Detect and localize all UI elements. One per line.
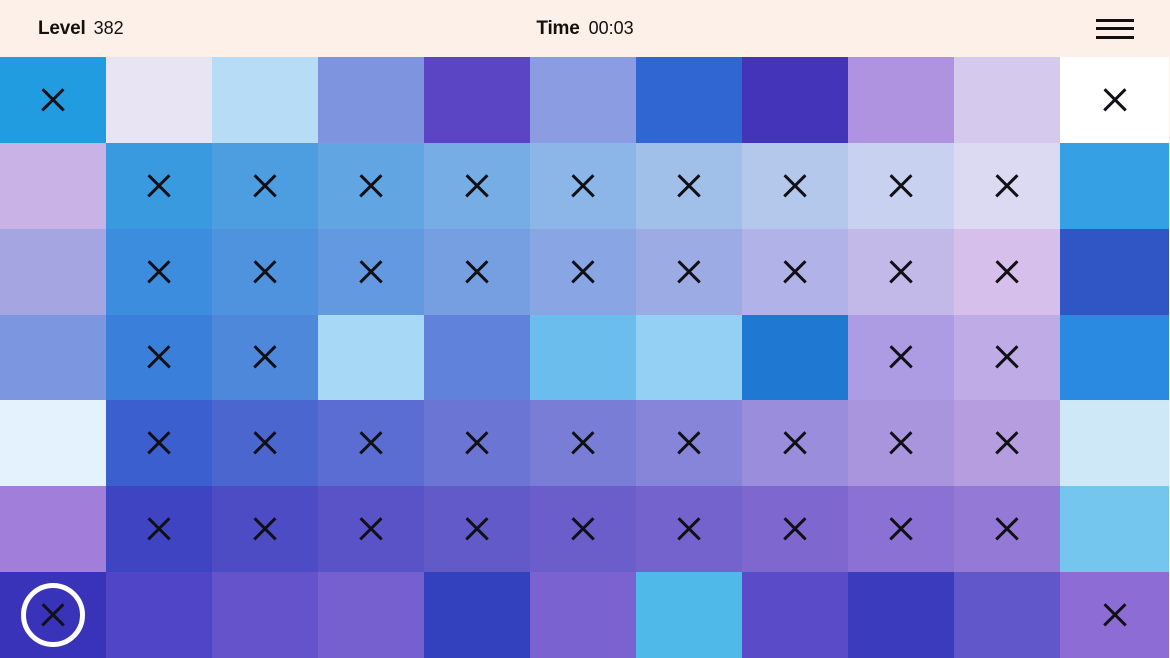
grid-cell[interactable] [530,400,636,486]
x-mark-icon [994,173,1020,199]
x-mark-icon [1102,87,1128,113]
x-mark-icon [994,259,1020,285]
x-mark-icon [570,516,596,542]
grid-cell[interactable] [1060,57,1169,143]
x-mark-icon [252,430,278,456]
grid-cell[interactable] [0,400,106,486]
grid-cell[interactable] [636,486,742,572]
grid-cell[interactable] [318,572,424,658]
x-mark-icon [782,516,808,542]
level-indicator: Level 382 [38,18,124,40]
grid-cell[interactable] [530,315,636,401]
x-mark-icon [252,173,278,199]
x-mark-icon [358,430,384,456]
x-mark-icon [570,430,596,456]
grid-cell[interactable] [954,486,1060,572]
x-mark-icon [146,516,172,542]
grid-cell[interactable] [1060,229,1169,315]
x-mark-icon [676,173,702,199]
grid-cell[interactable] [424,57,530,143]
x-mark-icon [464,173,490,199]
x-mark-icon [676,516,702,542]
x-mark-icon [146,430,172,456]
grid-cell[interactable] [1060,143,1169,229]
x-mark-icon [40,602,66,628]
grid-cell[interactable] [106,143,212,229]
grid-cell[interactable] [848,315,954,401]
grid-cell[interactable] [106,57,212,143]
grid-cell[interactable] [212,143,318,229]
level-label: Level [38,18,86,40]
level-value: 382 [94,18,124,39]
game-screen: Level 382 Time 00:03 [0,0,1170,658]
grid-cell[interactable] [424,486,530,572]
grid-cell[interactable] [742,486,848,572]
x-mark-icon [570,173,596,199]
grid-cell[interactable] [0,143,106,229]
x-mark-icon [146,259,172,285]
grid-cell[interactable] [636,229,742,315]
x-mark-icon [1102,602,1128,628]
grid-cell[interactable] [742,572,848,658]
x-mark-icon [782,173,808,199]
x-mark-icon [888,516,914,542]
x-mark-icon [464,516,490,542]
grid-cell[interactable] [106,315,212,401]
grid-cell[interactable] [848,572,954,658]
time-value: 00:03 [589,18,634,39]
x-mark-icon [994,430,1020,456]
grid-cell[interactable] [848,486,954,572]
grid-cell[interactable] [318,57,424,143]
x-mark-icon [782,259,808,285]
grid-cell[interactable] [636,400,742,486]
grid-cell[interactable] [212,400,318,486]
grid-cell[interactable] [424,315,530,401]
x-mark-icon [146,173,172,199]
grid-cell[interactable] [742,57,848,143]
grid-cell[interactable] [848,400,954,486]
x-mark-icon [40,87,66,113]
grid-cell[interactable] [1060,486,1169,572]
grid-cell[interactable] [742,315,848,401]
x-mark-icon [888,259,914,285]
grid-cell[interactable] [848,143,954,229]
x-mark-icon [252,344,278,370]
x-mark-icon [464,259,490,285]
grid-cell[interactable] [212,486,318,572]
grid-cell[interactable] [954,315,1060,401]
grid-cell[interactable] [424,143,530,229]
grid-cell[interactable] [954,229,1060,315]
menu-bar-2 [1096,27,1134,30]
x-mark-icon [994,344,1020,370]
hamburger-menu-icon[interactable] [1096,16,1134,42]
game-header: Level 382 Time 00:03 [0,0,1170,57]
grid-cell[interactable] [848,57,954,143]
grid-cell[interactable] [318,486,424,572]
grid-cell[interactable] [212,315,318,401]
grid-cell[interactable] [954,400,1060,486]
x-mark-icon [888,344,914,370]
menu-bar-1 [1096,19,1134,22]
grid-cell[interactable] [636,143,742,229]
grid-cell[interactable] [636,57,742,143]
grid-cell[interactable] [954,572,1060,658]
selected-cell-ring [21,583,85,647]
grid-cell[interactable] [424,400,530,486]
grid-cell[interactable] [530,486,636,572]
x-mark-icon [570,259,596,285]
grid-cell[interactable] [106,400,212,486]
grid-cell[interactable] [318,315,424,401]
x-mark-icon [888,173,914,199]
grid-cell[interactable] [636,315,742,401]
menu-bar-3 [1096,36,1134,39]
grid-cell[interactable] [742,229,848,315]
x-mark-icon [782,430,808,456]
grid-cell[interactable] [848,229,954,315]
x-mark-icon [994,516,1020,542]
grid-cell[interactable] [318,143,424,229]
grid-cell[interactable] [212,57,318,143]
grid-cell[interactable] [636,572,742,658]
grid-cell[interactable] [1060,315,1169,401]
grid-cell[interactable] [742,143,848,229]
grid-cell[interactable] [106,486,212,572]
grid-cell[interactable] [0,315,106,401]
x-mark-icon [358,516,384,542]
x-mark-icon [676,259,702,285]
grid-cell[interactable] [0,57,106,143]
grid-cell[interactable] [530,57,636,143]
time-indicator: Time 00:03 [536,18,633,40]
grid-cell[interactable] [0,229,106,315]
x-mark-icon [252,259,278,285]
grid-cell[interactable] [530,143,636,229]
grid-cell[interactable] [318,400,424,486]
grid-cell[interactable] [212,229,318,315]
game-grid [0,57,1170,658]
grid-cell[interactable] [1060,400,1169,486]
grid-cell[interactable] [424,229,530,315]
grid-cell[interactable] [212,572,318,658]
x-mark-icon [358,173,384,199]
grid-cell[interactable] [742,400,848,486]
grid-cell[interactable] [0,486,106,572]
grid-cell[interactable] [954,57,1060,143]
grid-cell[interactable] [1060,572,1169,658]
grid-cell[interactable] [318,229,424,315]
grid-cell[interactable] [106,572,212,658]
x-mark-icon [464,430,490,456]
x-mark-icon [146,344,172,370]
grid-cell[interactable] [954,143,1060,229]
grid-cell[interactable] [0,572,106,658]
x-mark-icon [252,516,278,542]
grid-cell[interactable] [530,572,636,658]
grid-cell[interactable] [530,229,636,315]
x-mark-icon [888,430,914,456]
time-label: Time [536,18,579,40]
x-mark-icon [676,430,702,456]
x-mark-icon [358,259,384,285]
grid-cell[interactable] [106,229,212,315]
grid-cell[interactable] [424,572,530,658]
